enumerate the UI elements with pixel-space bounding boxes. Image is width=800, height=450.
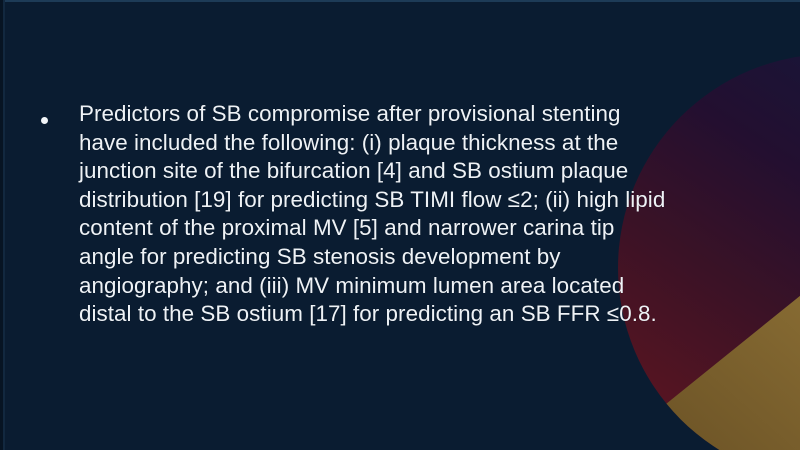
body-text-placeholder[interactable]: Predictors of SB compromise after provis… [36, 100, 666, 329]
bullet-dot-icon [41, 117, 48, 124]
slide-top-edge [0, 0, 800, 2]
slide-canvas: Predictors of SB compromise after provis… [0, 0, 800, 450]
slide-left-edge-inner [3, 0, 5, 450]
bullet-marker [36, 100, 79, 129]
bullet-item-text: Predictors of SB compromise after provis… [79, 100, 666, 329]
bullet-list-item[interactable]: Predictors of SB compromise after provis… [36, 100, 666, 329]
decor-gold-wedge [666, 86, 800, 450]
